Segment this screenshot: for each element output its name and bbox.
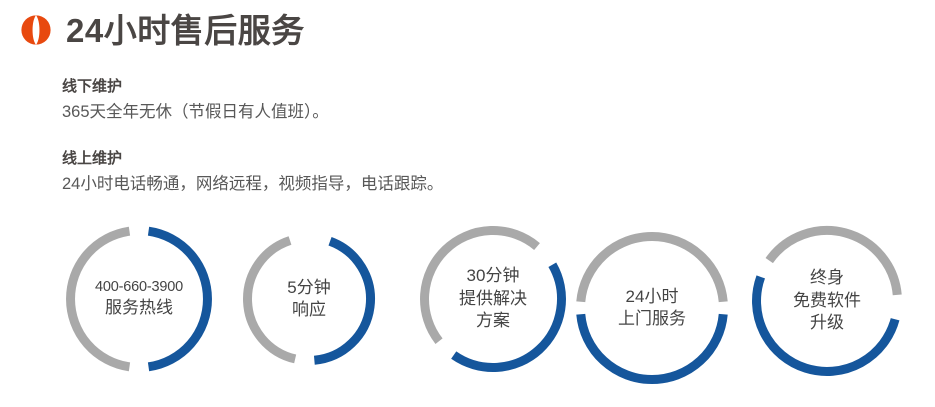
page-title: 24小时售后服务: [66, 14, 305, 47]
section-offline-maintenance: 线下维护 365天全年无休（节假日有人值班）。: [62, 76, 329, 125]
badge-service-hotline: 400-660-3900服务热线: [66, 226, 212, 372]
section-body: 365天全年无休（节假日有人值班）。: [62, 101, 329, 125]
split-circle-logo-icon: [18, 12, 54, 48]
ring-arc-icon: [66, 226, 212, 372]
ring-arc-icon: [576, 232, 728, 384]
badge-onsite-service-24h: 24小时上门服务: [576, 232, 728, 384]
section-heading: 线下维护: [62, 76, 329, 98]
badge-five-minute-response: 5分钟响应: [243, 233, 375, 365]
section-online-maintenance: 线上维护 24小时电话畅通，网络远程，视频指导，电话跟踪。: [62, 148, 443, 197]
page-header: 24小时售后服务: [18, 12, 305, 48]
ring-arc-icon: [420, 226, 566, 372]
badge-thirty-minute-solution: 30分钟提供解决方案: [420, 226, 566, 372]
section-heading: 线上维护: [62, 148, 443, 170]
service-badges-row: 400-660-3900服务热线 5分钟响应 30分钟提供解决方案 24小时上门…: [0, 226, 935, 391]
section-body: 24小时电话畅通，网络远程，视频指导，电话跟踪。: [62, 173, 443, 197]
ring-arc-icon: [243, 233, 375, 365]
badge-lifetime-free-software-upgrade: 终身免费软件升级: [752, 226, 902, 376]
ring-arc-icon: [752, 226, 902, 376]
